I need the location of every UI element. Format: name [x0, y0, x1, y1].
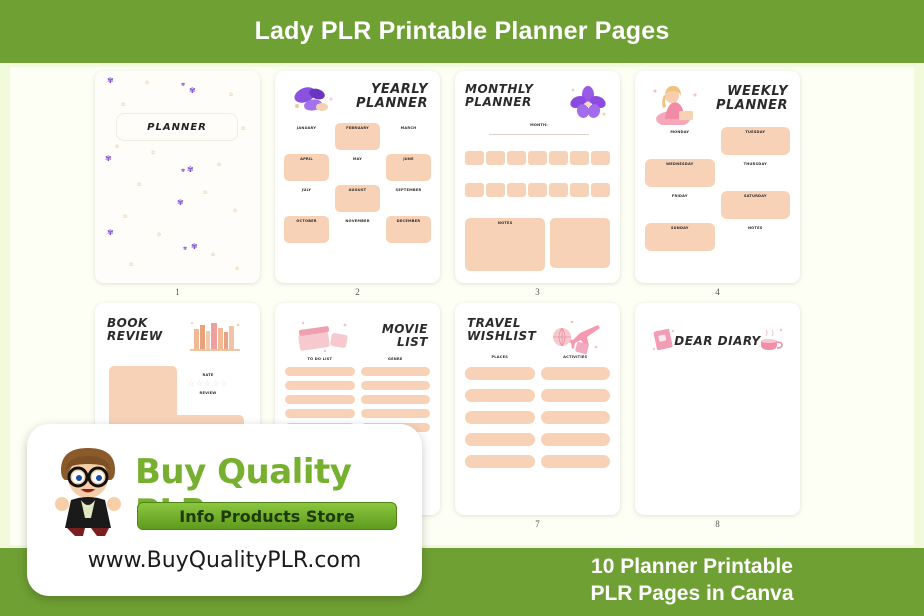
day-box[interactable]: FRIDAY [645, 191, 715, 219]
speck-icon: ✿ [203, 191, 207, 196]
calendar-cell[interactable] [486, 199, 505, 213]
list-item[interactable] [465, 455, 535, 468]
list-item[interactable] [541, 389, 611, 402]
cover-background: ✾ ✾ ✾ ✾ ✾ ✾ ✾ ✾ ✾ ✾ ✿ ✿ ✿ ✿ ✿ ✿ ✿ [95, 71, 260, 283]
calendar-cell[interactable] [591, 135, 610, 149]
speck-icon: ✿ [137, 183, 141, 188]
boy-mascot-icon [51, 444, 125, 536]
calendar-row [465, 135, 610, 149]
speck-icon: ✿ [129, 263, 133, 268]
calendar-cell[interactable] [549, 167, 568, 181]
notes-box-secondary[interactable] [550, 218, 610, 268]
month-box[interactable]: SEPTEMBER [386, 185, 431, 212]
calendar-row [465, 167, 610, 181]
page-number: 7 [455, 519, 620, 529]
speck-icon: ✿ [211, 253, 215, 258]
month-box[interactable]: MAY [335, 154, 380, 181]
notes-box[interactable]: NOTES [721, 223, 791, 251]
list-item[interactable] [465, 433, 535, 446]
purple-flower-icon: ✾ [187, 166, 194, 174]
calendar-cell[interactable] [570, 151, 589, 165]
page-number: 2 [275, 287, 440, 297]
month-box[interactable]: JULY [284, 185, 329, 212]
page-cell-7: TRAVEL WISHLIST PLACES ACTIVITIES [455, 303, 620, 529]
speck-icon: ✿ [115, 145, 119, 150]
planner-page-cover[interactable]: ✾ ✾ ✾ ✾ ✾ ✾ ✾ ✾ ✾ ✾ ✿ ✿ ✿ ✿ ✿ ✿ ✿ [95, 71, 260, 283]
cover-title: PLANNER [147, 122, 207, 133]
calendar-cell[interactable] [570, 167, 589, 181]
purple-flower-icon: ✾ [105, 155, 112, 163]
purple-flower-icon: ✾ [183, 247, 187, 252]
list-item[interactable] [541, 411, 611, 424]
woman-reading-icon [647, 83, 703, 125]
list-item[interactable] [361, 409, 431, 418]
weekly-title: WEEKLY PLANNER [716, 85, 788, 113]
clapperboard-icon [295, 317, 355, 355]
notes-box[interactable]: NOTES [465, 218, 545, 271]
month-field[interactable]: MONTH: [489, 123, 589, 135]
calendar-grid [465, 135, 610, 215]
page-number: 8 [635, 519, 800, 529]
travel-wishlist-title: TRAVEL WISHLIST [467, 317, 536, 343]
page-cell-2: YEARLY PLANNER JANUARY FEBRUARY MARCH AP… [275, 71, 440, 297]
calendar-cell[interactable] [465, 167, 484, 181]
speck-icon: ✿ [123, 215, 127, 220]
calendar-row [465, 183, 610, 197]
list-item[interactable] [285, 395, 355, 404]
calendar-cell[interactable] [570, 199, 589, 213]
calendar-cell[interactable] [486, 151, 505, 165]
list-item[interactable] [465, 389, 535, 402]
speck-icon: ✿ [235, 267, 239, 272]
calendar-cell[interactable] [549, 151, 568, 165]
calendar-cell[interactable] [528, 151, 547, 165]
bookshelf-icon [186, 319, 248, 355]
calendar-cell[interactable] [465, 183, 484, 197]
calendar-row [465, 199, 610, 213]
day-box[interactable]: WEDNESDAY [645, 159, 715, 187]
month-box[interactable]: MARCH [386, 123, 431, 150]
day-box[interactable]: TUESDAY [721, 127, 791, 155]
purple-flower-icon: ✾ [177, 199, 184, 207]
calendar-cell[interactable] [549, 199, 568, 213]
day-box[interactable]: MONDAY [645, 127, 715, 155]
purple-flower-icon [568, 85, 608, 119]
month-box[interactable]: JUNE [386, 154, 431, 181]
list-item[interactable] [541, 433, 611, 446]
calendar-cell[interactable] [465, 199, 484, 213]
footer-line-1: 10 Planner Printable [460, 554, 924, 581]
page-cell-3: MONTHLY PLANNER MONTH: [455, 71, 620, 297]
list-item[interactable] [285, 381, 355, 390]
movie-list-rows [285, 367, 430, 432]
purple-butterfly-icon [287, 85, 341, 115]
brand-url[interactable]: www.BuyQualityPLR.com [27, 548, 422, 573]
planner-page-monthly[interactable]: MONTHLY PLANNER MONTH: [455, 71, 620, 283]
speck-icon: ✿ [151, 151, 155, 156]
footer-caption: 10 Planner Printable PLR Pages in Canva [460, 554, 924, 608]
purple-flower-icon: ✾ [107, 77, 114, 85]
calendar-cell[interactable] [591, 183, 610, 197]
calendar-cell[interactable] [549, 183, 568, 197]
star-rating[interactable]: ☆☆☆☆☆ [172, 379, 244, 388]
calendar-cell[interactable] [528, 167, 547, 181]
list-item[interactable] [465, 411, 535, 424]
travel-column-headers: PLACES ACTIVITIES [465, 355, 610, 359]
calendar-cell[interactable] [528, 183, 547, 197]
list-item[interactable] [541, 367, 611, 380]
list-item[interactable] [361, 395, 431, 404]
planner-page-dear-diary[interactable]: DEAR DIARY [635, 303, 800, 515]
day-box[interactable]: SUNDAY [645, 223, 715, 251]
purple-flower-icon: ✾ [107, 229, 114, 237]
travel-icons [550, 317, 610, 355]
list-item[interactable] [361, 381, 431, 390]
calendar-row [465, 151, 610, 165]
speck-icon: ✿ [121, 103, 125, 108]
calendar-cell[interactable] [507, 183, 526, 197]
footer-line-2: PLR Pages in Canva [460, 581, 924, 608]
calendar-cell[interactable] [486, 135, 505, 149]
page-number: 1 [95, 287, 260, 297]
speck-icon: ✿ [157, 233, 161, 238]
calendar-cell[interactable] [507, 151, 526, 165]
calendar-cell[interactable] [507, 199, 526, 213]
month-box[interactable]: OCTOBER [284, 216, 329, 243]
list-item[interactable] [285, 409, 355, 418]
list-item[interactable] [361, 367, 431, 376]
page-title: Lady PLR Printable Planner Pages [255, 17, 670, 46]
planner-page-weekly[interactable]: WEEKLY PLANNER MONDAY TUESDAY WEDNESDAY … [635, 71, 800, 283]
calendar-cell[interactable] [591, 199, 610, 213]
pink-teacup-icon [756, 325, 786, 353]
monthly-title: MONTHLY PLANNER [465, 83, 533, 109]
day-box[interactable]: THURSDAY [721, 159, 791, 187]
calendar-cell[interactable] [528, 199, 547, 213]
page-number: 3 [455, 287, 620, 297]
list-item[interactable] [465, 367, 535, 380]
yearly-month-grid: JANUARY FEBRUARY MARCH APRIL MAY JUNE JU… [285, 123, 430, 243]
calendar-cell[interactable] [507, 167, 526, 181]
calendar-cell[interactable] [570, 183, 589, 197]
purple-flower-icon: ✾ [191, 243, 198, 251]
speck-icon: ✿ [241, 127, 245, 132]
calendar-cell[interactable] [465, 151, 484, 165]
page-cell-4: WEEKLY PLANNER MONDAY TUESDAY WEDNESDAY … [635, 71, 800, 297]
brand-badge: Info Products Store [137, 502, 397, 530]
list-item[interactable] [541, 455, 611, 468]
day-box[interactable]: SATURDAY [721, 191, 791, 219]
book-review-title: BOOK REVIEW [107, 317, 163, 343]
weekly-day-grid: MONDAY TUESDAY WEDNESDAY THURSDAY FRIDAY… [645, 127, 790, 251]
calendar-cell[interactable] [528, 135, 547, 149]
speck-icon: ✿ [229, 93, 233, 98]
calendar-cell[interactable] [591, 167, 610, 181]
month-box[interactable]: NOVEMBER [335, 216, 380, 243]
month-box[interactable]: APRIL [284, 154, 329, 181]
planner-page-yearly[interactable]: YEARLY PLANNER JANUARY FEBRUARY MARCH AP… [275, 71, 440, 283]
month-box[interactable]: DECEMBER [386, 216, 431, 243]
speck-icon: ✿ [217, 163, 221, 168]
purple-flower-icon: ✾ [181, 83, 185, 88]
calendar-cell[interactable] [465, 135, 484, 149]
yearly-title: YEARLY PLANNER [356, 83, 428, 111]
calendar-cell[interactable] [549, 135, 568, 149]
calendar-cell[interactable] [591, 151, 610, 165]
calendar-cell[interactable] [486, 167, 505, 181]
planner-page-travel-wishlist[interactable]: TRAVEL WISHLIST PLACES ACTIVITIES [455, 303, 620, 515]
rating-section: RATE ☆☆☆☆☆ REVIEW [172, 373, 244, 395]
movie-list-title: MOVIE LIST [382, 323, 428, 349]
speck-icon: ✿ [145, 81, 149, 86]
brand-badge-label: Info Products Store [179, 507, 354, 526]
speck-icon: ✿ [233, 209, 237, 214]
notes-section: NOTES [465, 218, 610, 271]
month-box[interactable]: FEBRUARY [335, 123, 380, 150]
month-box[interactable]: AUGUST [335, 185, 380, 212]
travel-list-rows [465, 367, 610, 468]
brand-logo-card[interactable]: Buy Quality PLR Info Products Store www.… [27, 424, 422, 596]
page-number: 4 [635, 287, 800, 297]
calendar-cell[interactable] [570, 135, 589, 149]
calendar-cell[interactable] [486, 183, 505, 197]
page-cell-1: ✾ ✾ ✾ ✾ ✾ ✾ ✾ ✾ ✾ ✾ ✿ ✿ ✿ ✿ ✿ ✿ ✿ [95, 71, 260, 297]
month-box[interactable]: JANUARY [284, 123, 329, 150]
purple-flower-icon: ✾ [189, 87, 196, 95]
page-header: Lady PLR Printable Planner Pages [0, 0, 924, 63]
calendar-cell[interactable] [507, 135, 526, 149]
purple-flower-icon: ✾ [181, 169, 185, 174]
movie-column-headers: TO DO LIST GENRE [285, 357, 430, 361]
cover-title-plate: PLANNER [117, 114, 237, 140]
page-cell-8: DEAR DIARY 8 [635, 303, 800, 529]
list-item[interactable] [285, 367, 355, 376]
